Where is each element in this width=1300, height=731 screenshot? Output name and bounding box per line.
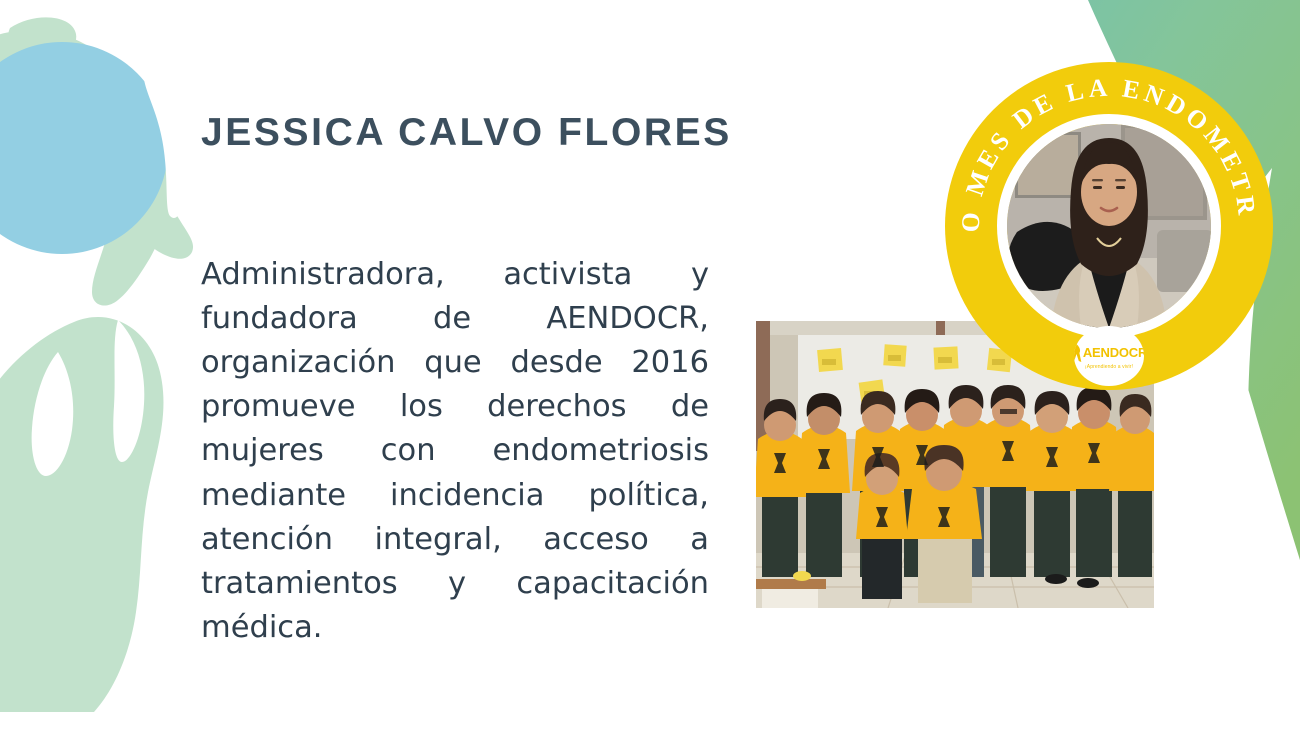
page-title: JESSICA CALVO FLORES [201, 112, 801, 155]
aendocr-logo: AENDOCR ¡Aprendiendo a vivir! [1074, 326, 1144, 386]
slide-canvas: JESSICA CALVO FLORES Administradora, act… [0, 0, 1300, 731]
logo-row: AENDOCR [1074, 343, 1144, 363]
awareness-ribbon-icon [1074, 343, 1082, 363]
logo-tagline: ¡Aprendiendo a vivir! [1085, 364, 1133, 370]
logo-wordmark: AENDOCR [1083, 346, 1144, 359]
biography-paragraph: Administradora, activista y fundadora de… [201, 253, 709, 695]
